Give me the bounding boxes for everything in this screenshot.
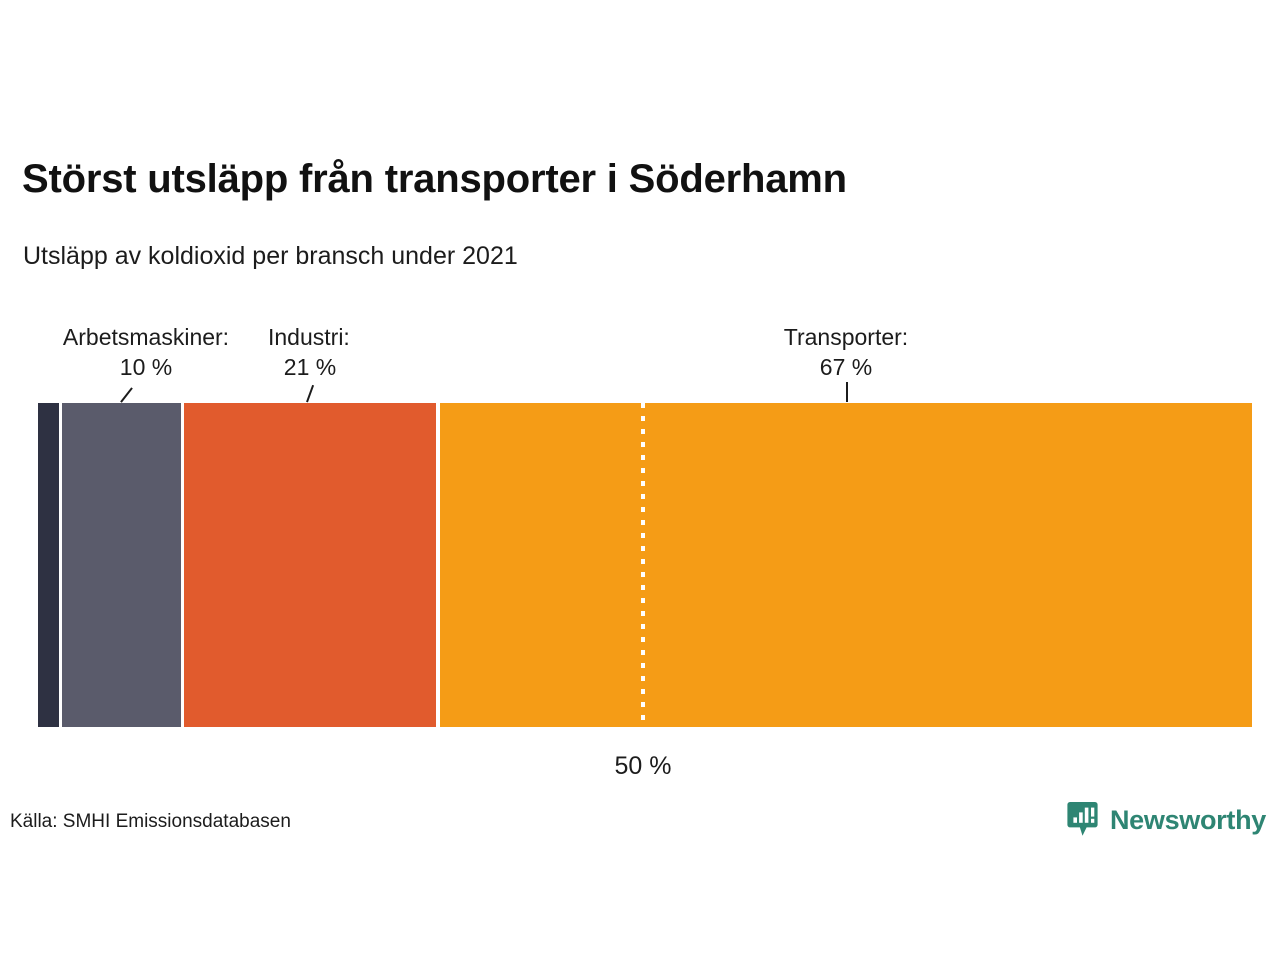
leader-line-industri — [306, 385, 314, 402]
annotation-industri: Industri: 21 % — [268, 322, 352, 382]
bar-segment-industri — [184, 403, 436, 727]
annotation-transporter: Transporter: 67 % — [746, 322, 946, 382]
annotation-industri-label: Industri: — [268, 322, 352, 352]
annotation-arbetsmaskiner: Arbetsmaskiner: 10 % — [41, 322, 251, 382]
annotation-transporter-label: Transporter: — [746, 322, 946, 352]
leader-line-transporter — [846, 382, 848, 402]
bar-segment-övrigt — [38, 403, 59, 727]
chart-subtitle: Utsläpp av koldioxid per bransch under 2… — [23, 240, 1243, 272]
bar-segment-arbetsmaskiner — [62, 403, 180, 727]
annotation-arbetsmaskiner-label: Arbetsmaskiner: — [41, 322, 251, 352]
page-title: Störst utsläpp från transporter i Söderh… — [22, 155, 1242, 203]
stacked-bar — [38, 403, 1256, 727]
gridline-50-percent — [641, 403, 645, 727]
bar-segment-transporter — [440, 403, 1252, 727]
chart-canvas: Störst utsläpp från transporter i Söderh… — [0, 0, 1280, 960]
gridline-label-50-percent: 50 % — [543, 752, 743, 781]
newsworthy-logo: Newsworthy — [1067, 800, 1266, 840]
annotation-transporter-value: 67 % — [746, 352, 946, 382]
source-note: Källa: SMHI Emissionsdatabasen — [10, 809, 291, 835]
leader-line-arbetsmaskiner — [120, 387, 132, 402]
annotation-arbetsmaskiner-value: 10 % — [41, 352, 251, 382]
annotation-industri-value: 21 % — [268, 352, 352, 382]
newsworthy-wordmark: Newsworthy — [1110, 805, 1266, 835]
bar-chart-speech-bubble-icon — [1067, 801, 1101, 839]
